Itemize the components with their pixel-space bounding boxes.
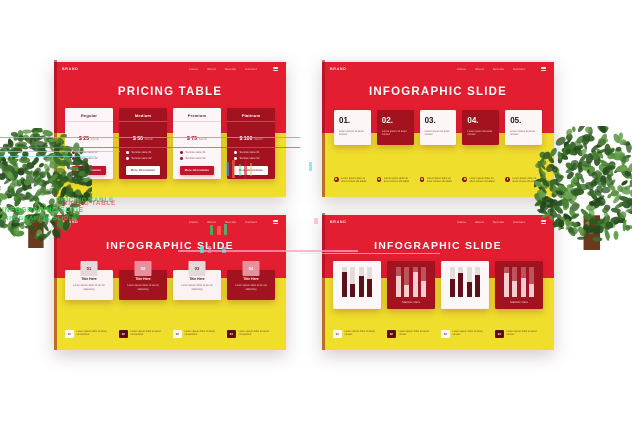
plan-amount: $ 100 (239, 136, 252, 142)
slide-navbar: BRAND Home About Service Contact (322, 60, 554, 77)
more-information-button[interactable]: More Information (234, 166, 269, 175)
slide-navbar: BRAND Home About Service Contact (322, 213, 554, 230)
page-title: INFOGRAPHIC SLIDE (322, 86, 554, 98)
check-circle-icon (377, 177, 382, 182)
plan-feature-label: Service Here 01 (132, 151, 152, 154)
bar-3 (413, 272, 418, 298)
chip-number: 02 (119, 330, 128, 339)
nav-link-about[interactable]: About (207, 220, 216, 224)
nav-links: Home About Service Contact (457, 67, 546, 71)
slide-left-rim (322, 60, 325, 197)
bar-column (421, 267, 426, 297)
glitch-text: PRICING TABLE (58, 200, 116, 207)
more-information-button[interactable]: More Information (180, 166, 215, 175)
bar-1 (450, 279, 455, 297)
bar-4 (367, 279, 372, 297)
bar-column (521, 267, 526, 297)
number-card-number: 02. (382, 117, 409, 125)
nav-link-service[interactable]: Service (493, 220, 504, 224)
check-circle-icon (420, 177, 425, 182)
number-card-number: 04. (467, 117, 494, 125)
list-item: 02Lorem ipsum dolor sit amet consectetur (119, 330, 167, 339)
chip-text: Lorem ipsum dolor sit amet consectetur (239, 330, 276, 338)
list-item-text: Lorem ipsum dolor sit amet consec elit a… (341, 177, 371, 185)
slide-top-rim (54, 60, 286, 62)
bar-chart (392, 267, 430, 297)
hamburger-icon[interactable] (273, 220, 278, 224)
chip-number: 03 (441, 330, 450, 339)
bar-column (342, 267, 347, 297)
slide-left-rim (322, 213, 325, 350)
pricing-card[interactable]: Regular $ 25/Month Service Here 01 Servi… (65, 108, 113, 179)
list-item: Lorem ipsum dolor sit amet consec elit a… (505, 177, 542, 185)
pricing-card-row: Regular $ 25/Month Service Here 01 Servi… (65, 108, 275, 179)
bullet-dot-icon (72, 157, 75, 160)
page-title: INFOGRAPHIC SLIDE (54, 240, 286, 252)
chip-text: Lorem ipsum dolor sit amet consec (507, 330, 544, 338)
bar-3 (467, 282, 472, 297)
slide-navbar: BRAND Home About Service Contact (54, 60, 286, 77)
plan-amount: $ 75 (187, 136, 197, 142)
slide-top-rim (54, 213, 286, 215)
list-item: Lorem ipsum dolor sit amet consec elit a… (420, 177, 457, 185)
bar-1 (396, 276, 401, 297)
chip-text: Lorem ipsum dolor sit amet consectetur (77, 330, 114, 338)
more-information-button[interactable]: More Information (126, 166, 161, 175)
chip-number: 04 (227, 330, 236, 339)
chip-text: Lorem ipsum dolor sit amet consectetur (131, 330, 168, 338)
tab-card-text: Lorem ipsum dolor sit am sit adipiscing (71, 284, 107, 292)
nav-link-contact[interactable]: Contact (513, 220, 525, 224)
tab-card[interactable]: 03 Title Here Lorem ipsum dolor sit am s… (173, 261, 221, 300)
plan-price: $ 100/Month (227, 122, 275, 149)
brand-logo[interactable]: BRAND (330, 67, 346, 71)
number-card-text: Lorem ipsum sit amet consec (467, 130, 494, 138)
bar-4 (529, 284, 534, 298)
tab-card-badge: 03 (189, 261, 206, 276)
tab-card-heading: Title Here (179, 277, 215, 281)
nav-link-contact[interactable]: Contact (513, 67, 525, 71)
tab-card-heading: Title Here (71, 277, 107, 281)
plan-period: /Month (199, 137, 208, 141)
check-circle-icon (505, 177, 510, 182)
list-item-text: Lorem ipsum dolor sit amet consec elit a… (427, 177, 457, 185)
bullet-dot-icon (72, 151, 75, 154)
chip-text: Lorem ipsum dolor sit amet consec (399, 330, 436, 338)
bullet-list-row: Lorem ipsum dolor sit amet consec elit a… (334, 177, 542, 185)
tab-card[interactable]: 01 Title Here Lorem ipsum dolor sit am s… (65, 261, 113, 300)
bar-column (413, 267, 418, 297)
slide-infographic-tabs[interactable]: BRAND Home About Service Contact INFOGRA… (54, 213, 286, 350)
nav-link-about[interactable]: About (207, 67, 216, 71)
nav-link-home[interactable]: Home (457, 220, 466, 224)
nav-links: Home About Service Contact (189, 67, 278, 71)
bar-column (367, 267, 372, 297)
bar-column (396, 267, 401, 297)
chip-number: 02 (387, 330, 396, 339)
bar-4 (475, 275, 480, 298)
pricing-card[interactable]: Premium $ 75/Month Service Here 01 Servi… (173, 108, 221, 179)
chart-card[interactable]: Statistic Here (495, 261, 543, 309)
plan-feature: Service Here 02 (119, 155, 167, 161)
number-card[interactable]: 01. Lorem ipsum sit amet consec (334, 110, 371, 145)
bullet-dot-icon (234, 157, 237, 160)
chart-caption: Statistic Here (500, 301, 538, 304)
number-card-text: Lorem ipsum sit amet consec (510, 130, 537, 138)
plan-price: $ 25/Month (65, 122, 113, 149)
bar-column (504, 267, 509, 297)
plan-period: /Month (254, 137, 263, 141)
tab-card-heading: Title Here (233, 277, 269, 281)
number-card-text: Lorem ipsum sit amet consec (382, 130, 409, 138)
number-card-text: Lorem ipsum sit amet consec (339, 130, 366, 138)
list-item: Lorem ipsum dolor sit amet consec elit a… (462, 177, 499, 185)
list-item: 04Lorem ipsum dolor sit amet consectetur (227, 330, 275, 339)
chart-card[interactable]: Statistic Here (441, 261, 489, 309)
nav-link-home[interactable]: Home (189, 220, 198, 224)
plan-period: /Month (145, 137, 154, 141)
bar-column (475, 267, 480, 297)
chip-text: Lorem ipsum dolor sit amet consec (345, 330, 382, 338)
chip-number: 04 (495, 330, 504, 339)
check-circle-icon (462, 177, 467, 182)
tab-card-badge: 02 (135, 261, 152, 276)
nav-link-about[interactable]: About (475, 220, 484, 224)
bar-2 (512, 281, 517, 298)
presentation-mockup-canvas: BRAND Home About Service Contact PRICING… (0, 0, 632, 421)
tab-card-text: Lorem ipsum dolor sit am sit adipiscing (125, 284, 161, 292)
number-card[interactable]: 05. Lorem ipsum sit amet consec (505, 110, 542, 145)
number-card-number: 03. (425, 117, 452, 125)
list-item: 04Lorem ipsum dolor sit amet consec (495, 330, 543, 339)
number-card-number: 01. (339, 117, 366, 125)
plan-feature-label: Service Here 01 (240, 151, 260, 154)
bullet-dot-icon (180, 151, 183, 154)
pricing-card[interactable]: Platinum $ 100/Month Service Here 01 Ser… (227, 108, 275, 179)
chip-number: 01 (333, 330, 342, 339)
glitch-text: PRICING TABLE (56, 197, 114, 204)
plan-period: /Month (91, 137, 100, 141)
page-title: INFOGRAPHIC SLIDE (322, 240, 554, 252)
tab-card[interactable]: 02 Title Here Lorem ipsum dolor sit am s… (119, 261, 167, 300)
number-card[interactable]: 03. Lorem ipsum sit amet consec (420, 110, 457, 145)
tab-card-text: Lorem ipsum dolor sit am sit adipiscing (179, 284, 215, 292)
plan-feature: Service Here 02 (173, 155, 221, 161)
slide-infographic-charts[interactable]: BRAND Home About Service Contact INFOGRA… (322, 213, 554, 350)
chip-text: Lorem ipsum dolor sit amet consec (453, 330, 490, 338)
list-item: 02Lorem ipsum dolor sit amet consec (387, 330, 435, 339)
chart-caption: Statistic Here (338, 301, 376, 304)
number-card[interactable]: 04. Lorem ipsum sit amet consec (462, 110, 499, 145)
slide-top-rim (322, 213, 554, 215)
bar-2 (404, 285, 409, 297)
plan-tier-label: Medium (119, 108, 167, 122)
plan-tier-label: Premium (173, 108, 221, 122)
chip-text: Lorem ipsum dolor sit amet consectetur (185, 330, 222, 338)
tab-card-heading: Title Here (125, 277, 161, 281)
bar-4 (421, 281, 426, 298)
tab-card[interactable]: 04 Title Here Lorem ipsum dolor sit am s… (227, 261, 275, 300)
bullet-dot-icon (234, 151, 237, 154)
bullet-dot-icon (126, 157, 129, 160)
chart-card-row: Statistic Here Statistic Here Statistic … (333, 261, 543, 309)
bar-column (512, 267, 517, 297)
bar-column (359, 267, 364, 297)
chart-caption: Statistic Here (446, 301, 484, 304)
nav-links: Home About Service Contact (457, 220, 546, 224)
list-item: 03Lorem ipsum dolor sit amet consec (441, 330, 489, 339)
bar-chart (446, 267, 484, 297)
plan-feature-label: Service Here 02 (78, 157, 98, 160)
nav-link-contact[interactable]: Contact (245, 220, 257, 224)
plan-feature-label: Service Here 01 (78, 151, 98, 154)
chip-number: 03 (173, 330, 182, 339)
chart-card[interactable]: Statistic Here (387, 261, 435, 309)
hamburger-icon[interactable] (273, 67, 278, 71)
bar-3 (521, 278, 526, 298)
numbered-chip-row: 01Lorem ipsum dolor sit amet consectetur… (65, 330, 275, 339)
nav-link-contact[interactable]: Contact (245, 67, 257, 71)
plan-amount: $ 25 (79, 136, 89, 142)
bar-chart (338, 267, 376, 297)
bar-1 (342, 272, 347, 298)
list-item: Lorem ipsum dolor sit amet consec elit a… (377, 177, 414, 185)
bar-column (467, 267, 472, 297)
plan-price: $ 75/Month (173, 122, 221, 149)
nav-link-service[interactable]: Service (225, 220, 236, 224)
slide-left-rim (54, 213, 57, 350)
slide-navbar: BRAND Home About Service Contact (54, 213, 286, 230)
hamburger-icon[interactable] (541, 67, 546, 71)
brand-logo[interactable]: BRAND (62, 67, 78, 71)
bar-2 (350, 284, 355, 298)
plan-price: $ 50/Month (119, 122, 167, 149)
list-item-text: Lorem ipsum dolor sit amet consec elit a… (384, 177, 414, 185)
pricing-card[interactable]: Medium $ 50/Month Service Here 01 Servic… (119, 108, 167, 179)
bar-column (458, 267, 463, 297)
slide-pricing-table[interactable]: BRAND Home About Service Contact PRICING… (54, 60, 286, 197)
slide-infographic-numbers[interactable]: BRAND Home About Service Contact INFOGRA… (322, 60, 554, 197)
check-circle-icon (334, 177, 339, 182)
slide-top-rim (322, 60, 554, 62)
bullet-dot-icon (126, 151, 129, 154)
bar-chart (500, 267, 538, 297)
list-item: 01Lorem ipsum dolor sit amet consectetur (65, 330, 113, 339)
plan-feature-label: Service Here 01 (186, 151, 206, 154)
list-item: 01Lorem ipsum dolor sit amet consec (333, 330, 381, 339)
tab-card-badge: 04 (243, 261, 260, 276)
nav-link-home[interactable]: Home (189, 67, 198, 71)
brand-logo[interactable]: BRAND (62, 220, 78, 224)
nav-link-service[interactable]: Service (225, 67, 236, 71)
bar-column (529, 267, 534, 297)
hamburger-icon[interactable] (541, 220, 546, 224)
number-card-row: 01. Lorem ipsum sit amet consec 02. Lore… (334, 110, 542, 145)
plan-feature: Service Here 02 (227, 155, 275, 161)
plan-feature: Service Here 02 (65, 155, 113, 161)
nav-link-home[interactable]: Home (457, 67, 466, 71)
number-card-text: Lorem ipsum sit amet consec (425, 130, 452, 138)
page-title: PRICING TABLE (54, 86, 286, 98)
more-information-button[interactable]: More Information (72, 166, 107, 175)
plan-feature-label: Service Here 02 (132, 157, 152, 160)
plan-tier-label: Regular (65, 108, 113, 122)
bar-column (404, 267, 409, 297)
tab-card-text: Lorem ipsum dolor sit am sit adipiscing (233, 284, 269, 292)
list-item-text: Lorem ipsum dolor sit amet consec elit a… (512, 177, 542, 185)
nav-links: Home About Service Contact (189, 220, 278, 224)
numbered-chip-row: 01Lorem ipsum dolor sit amet consec 02Lo… (333, 330, 543, 339)
chart-caption: Statistic Here (392, 301, 430, 304)
nav-link-service[interactable]: Service (493, 67, 504, 71)
bar-1 (504, 273, 509, 297)
chart-card[interactable]: Statistic Here (333, 261, 381, 309)
bar-3 (359, 276, 364, 297)
bar-column (350, 267, 355, 297)
plan-feature-label: Service Here 02 (186, 157, 206, 160)
bar-2 (458, 273, 463, 297)
bar-column (450, 267, 455, 297)
tab-card-row: 01 Title Here Lorem ipsum dolor sit am s… (65, 261, 275, 300)
list-item: 03Lorem ipsum dolor sit amet consectetur (173, 330, 221, 339)
brand-logo[interactable]: BRAND (330, 220, 346, 224)
plan-tier-label: Platinum (227, 108, 275, 122)
plan-feature-label: Service Here 02 (240, 157, 260, 160)
number-card[interactable]: 02. Lorem ipsum sit amet consec (377, 110, 414, 145)
nav-link-about[interactable]: About (475, 67, 484, 71)
list-item-text: Lorem ipsum dolor sit amet consec elit a… (469, 177, 499, 185)
bullet-dot-icon (180, 157, 183, 160)
chip-number: 01 (65, 330, 74, 339)
tab-card-badge: 01 (81, 261, 98, 276)
list-item: Lorem ipsum dolor sit amet consec elit a… (334, 177, 371, 185)
slide-left-rim (54, 60, 57, 197)
number-card-number: 05. (510, 117, 537, 125)
plan-amount: $ 50 (133, 136, 143, 142)
